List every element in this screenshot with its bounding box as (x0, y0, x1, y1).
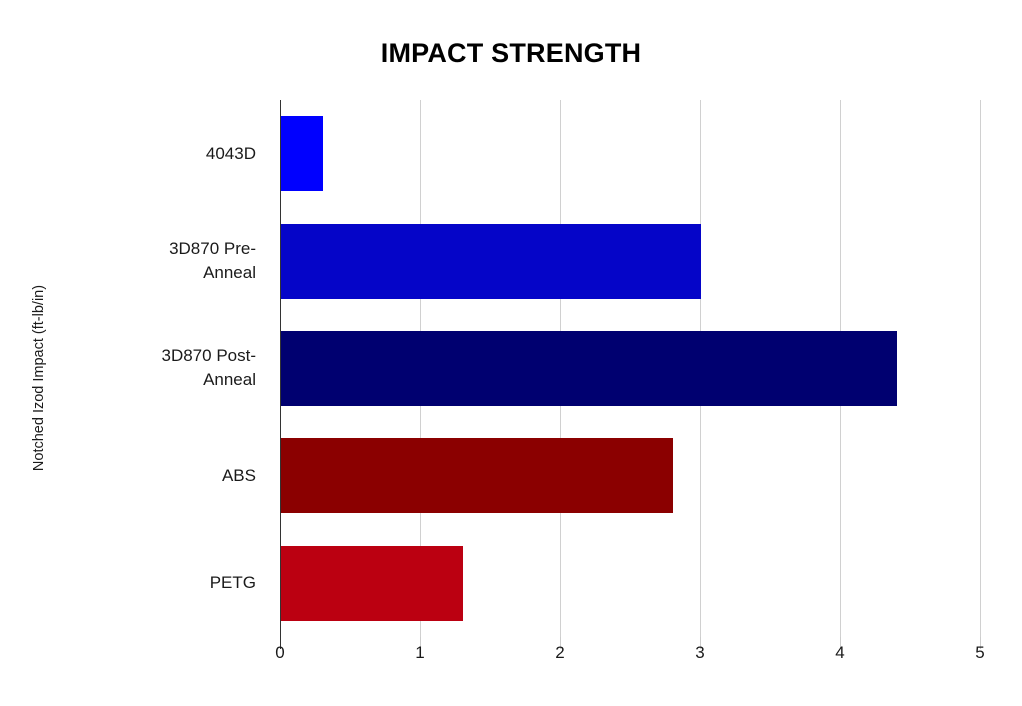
y-tick-label: ABS (0, 422, 268, 529)
x-tick-label: 0 (250, 643, 310, 663)
x-tick-label: 2 (530, 643, 590, 663)
plot-area: 012345 (280, 100, 980, 637)
impact-strength-bar-chart: IMPACT STRENGTH Notched Izod Impact (ft-… (0, 0, 1022, 706)
x-tick-label: 4 (810, 643, 870, 663)
bar-petg[interactable] (281, 546, 463, 621)
bar-row[interactable] (280, 224, 980, 299)
y-tick-label: PETG (0, 530, 268, 637)
bar-3d870-pre-anneal[interactable] (281, 224, 701, 299)
bar-row[interactable] (280, 116, 980, 191)
y-tick-label: 3D870 Pre-Anneal (0, 207, 268, 314)
bar-abs[interactable] (281, 438, 673, 513)
x-tick-label: 5 (950, 643, 1010, 663)
y-axis-tick-labels: 4043D3D870 Pre-Anneal3D870 Post-AnnealAB… (0, 100, 268, 637)
x-tick-label: 3 (670, 643, 730, 663)
chart-title: IMPACT STRENGTH (0, 38, 1022, 69)
x-tick-label: 1 (390, 643, 450, 663)
y-tick-label: 3D870 Post-Anneal (0, 315, 268, 422)
bar-3d870-post-anneal[interactable] (281, 331, 897, 406)
bar-row[interactable] (280, 546, 980, 621)
bar-row[interactable] (280, 331, 980, 406)
x-gridline (980, 100, 981, 637)
bar-4043d[interactable] (281, 116, 323, 191)
bar-row[interactable] (280, 438, 980, 513)
y-tick-label: 4043D (0, 100, 268, 207)
